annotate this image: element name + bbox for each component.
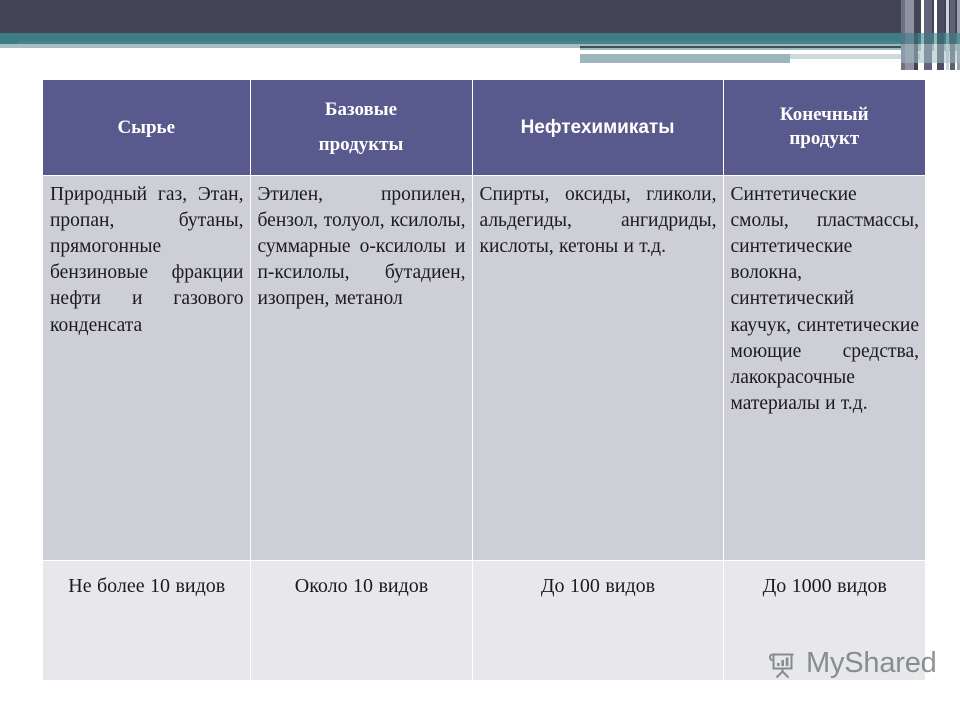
watermark-label: MyShared — [806, 647, 937, 680]
column-header-base-products-line-2: продукты — [257, 127, 466, 162]
column-header-final-product-line-1: Конечный — [730, 103, 920, 128]
banner-accent-rule — [580, 46, 910, 48]
cell-text: Около 10 видов — [258, 572, 466, 600]
banner-light-band-lower — [580, 54, 790, 63]
banner-dark-band — [0, 0, 960, 33]
cell-petrochemicals-count: До 100 видов — [472, 560, 723, 680]
value-chain-table-container: Сырье Базовые продукты Нефтехимикаты Кон… — [43, 80, 925, 680]
cell-text: Природный газ, Этан, пропан, бутаны, пря… — [50, 182, 244, 339]
table-row: Природный газ, Этан, пропан, бутаны, пря… — [43, 175, 925, 560]
value-chain-table: Сырье Базовые продукты Нефтехимикаты Кон… — [43, 80, 925, 680]
column-header-raw-materials-line-1: Сырье — [49, 110, 244, 145]
cell-base-products-count: Около 10 видов — [250, 560, 472, 680]
banner-vstripe-pale-overlay — [901, 44, 960, 63]
table-header-row: Сырье Базовые продукты Нефтехимикаты Кон… — [43, 80, 925, 175]
cell-text: Спирты, оксиды, гликоли, альдегиды, анги… — [480, 182, 717, 261]
column-header-base-products: Базовые продукты — [250, 80, 472, 175]
slide-top-banner — [0, 0, 960, 70]
column-header-base-products-line-1: Базовые — [257, 92, 466, 127]
cell-text: До 1000 видов — [731, 572, 920, 600]
column-header-raw-materials: Сырье — [43, 80, 250, 175]
cell-text: До 100 видов — [480, 572, 717, 600]
column-header-final-product: Конечный продукт — [723, 80, 925, 175]
cell-base-products-list: Этилен, пропилен, бензол, толуол, ксилол… — [250, 175, 472, 560]
cell-raw-materials-count: Не более 10 видов — [43, 560, 250, 680]
cell-raw-materials-list: Природный газ, Этан, пропан, бутаны, пря… — [43, 175, 250, 560]
watermark: MyShared — [766, 647, 937, 680]
cell-text: Синтетические смолы, пластмассы, синтети… — [731, 182, 920, 418]
banner-vstripe-teal-overlay — [901, 33, 960, 44]
column-header-petrochemicals-line-1: Нефтехимикаты — [479, 110, 717, 145]
banner-light-band-left — [0, 44, 580, 48]
presentation-board-icon — [766, 648, 798, 680]
cell-petrochemicals-list: Спирты, оксиды, гликоли, альдегиды, анги… — [472, 175, 723, 560]
cell-final-products-list: Синтетические смолы, пластмассы, синтети… — [723, 175, 925, 560]
cell-text: Не более 10 видов — [50, 572, 244, 600]
cell-text: Этилен, пропилен, бензол, толуол, ксилол… — [258, 182, 466, 313]
column-header-petrochemicals: Нефтехимикаты — [472, 80, 723, 175]
column-header-final-product-line-2: продукт — [730, 127, 920, 152]
